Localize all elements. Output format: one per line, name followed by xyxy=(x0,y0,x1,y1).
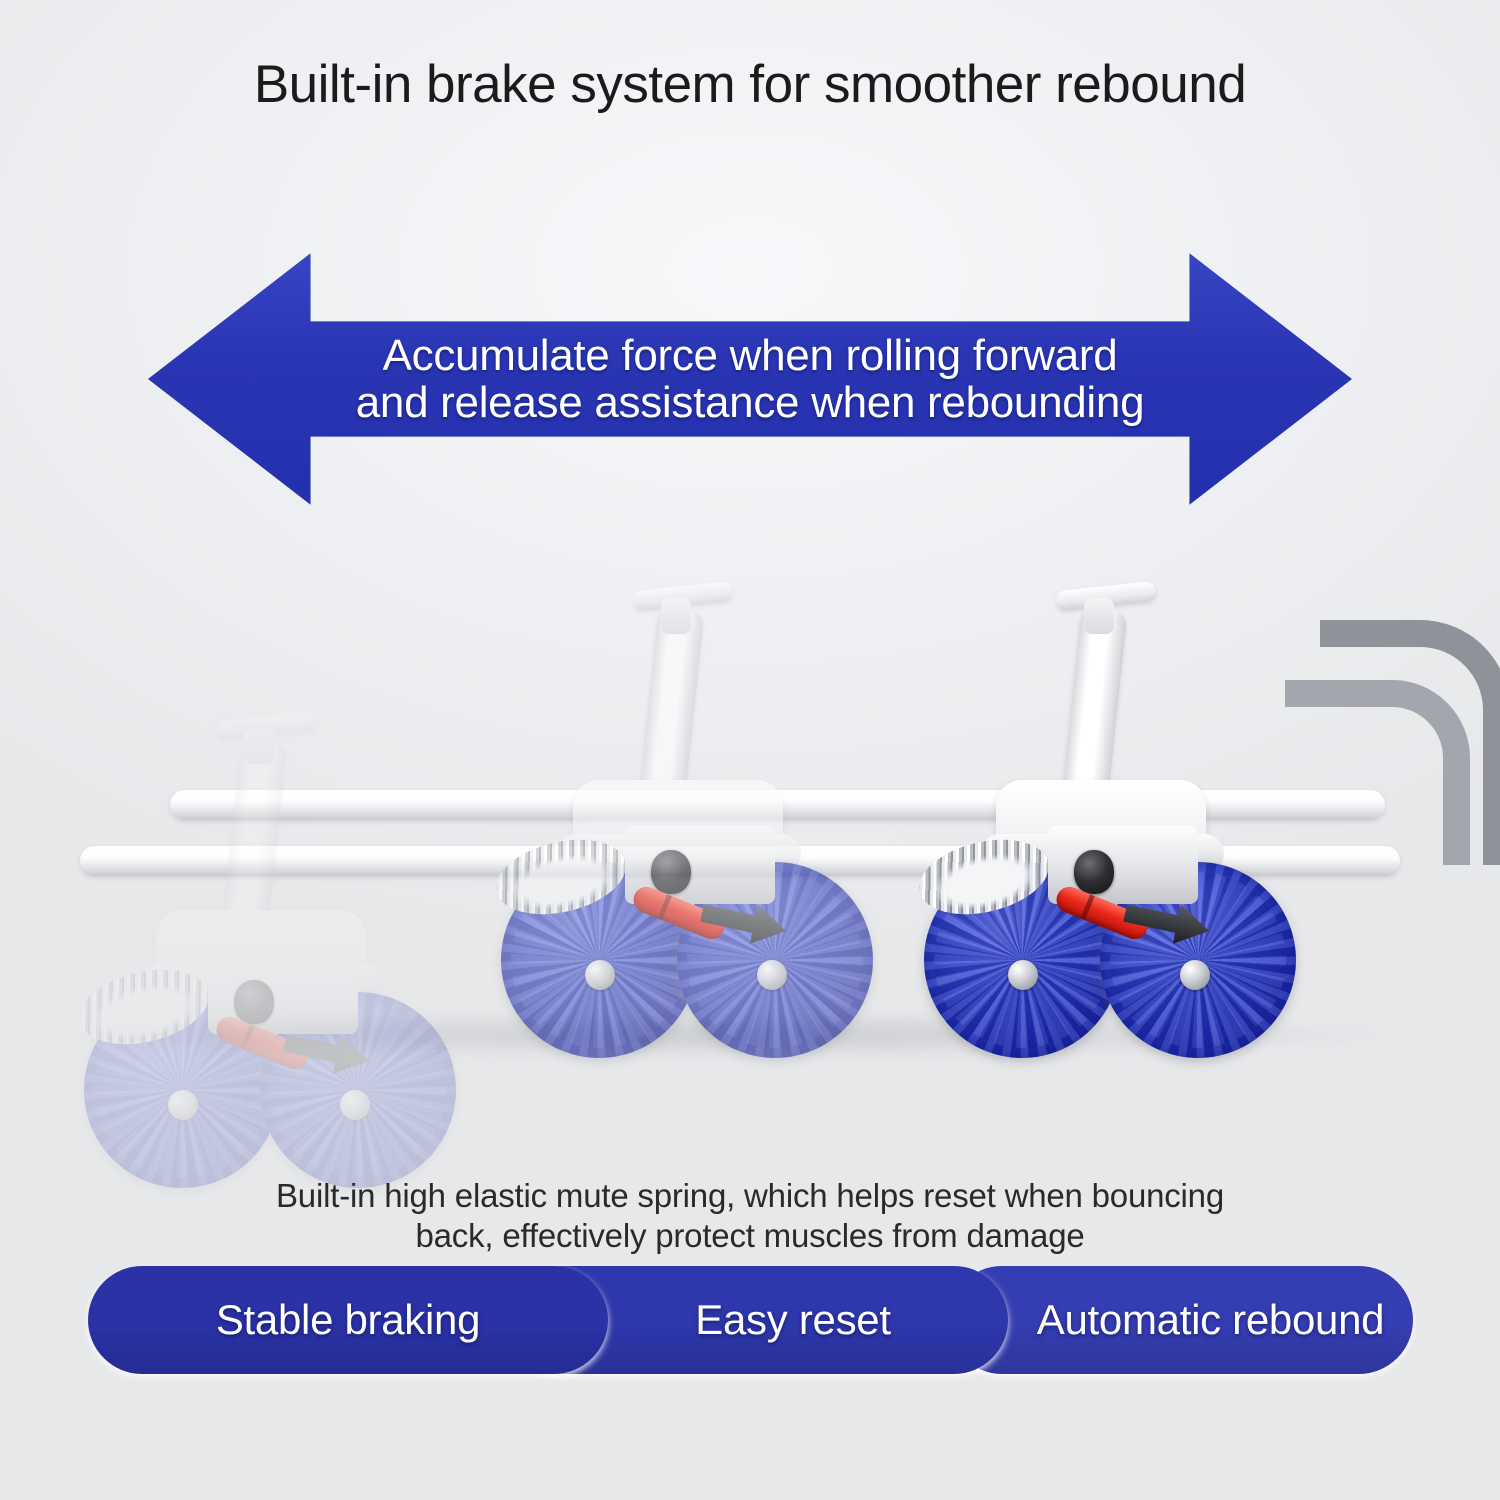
wheel-hub-left xyxy=(585,960,615,990)
feature-pill-bar: Automatic rebound Easy reset Stable brak… xyxy=(88,1266,1413,1374)
wheel-hub-right xyxy=(1180,960,1210,990)
handle-cap xyxy=(661,598,691,634)
feature-pill-label: Stable braking xyxy=(216,1296,480,1344)
feature-pill-automatic-rebound[interactable]: Automatic rebound xyxy=(948,1266,1413,1374)
banner-line-1: Accumulate force when rolling forward xyxy=(383,331,1118,380)
feature-caption: Built-in high elastic mute spring, which… xyxy=(0,1176,1500,1257)
brake-knob xyxy=(651,850,691,894)
wheel-hub-left xyxy=(168,1090,198,1120)
wheel-hub-left xyxy=(1008,960,1038,990)
banner-line-2: and release assistance when rebounding xyxy=(338,379,1162,426)
feature-pill-label: Easy reset xyxy=(695,1296,890,1344)
handle-cap xyxy=(244,728,274,764)
feature-pill-stable-braking[interactable]: Stable braking xyxy=(88,1266,608,1374)
roller-stage-1-ghost xyxy=(48,710,468,1230)
product-motion-sequence xyxy=(0,560,1500,1120)
brake-knob xyxy=(1074,850,1114,894)
caption-line-1: Built-in high elastic mute spring, which… xyxy=(276,1177,1224,1214)
handle-tube-inner xyxy=(1285,680,1470,865)
force-direction-banner: Accumulate force when rolling forward an… xyxy=(148,248,1352,510)
roller-stage-2-ghost xyxy=(465,580,885,1100)
banner-text: Accumulate force when rolling forward an… xyxy=(148,332,1352,426)
product-feature-infographic: Built-in brake system for smoother rebou… xyxy=(0,0,1500,1500)
page-title: Built-in brake system for smoother rebou… xyxy=(0,56,1500,114)
brake-knob xyxy=(234,980,274,1024)
handle-cap xyxy=(1084,598,1114,634)
wheel-hub-right xyxy=(757,960,787,990)
wheel-hub-right xyxy=(340,1090,370,1120)
caption-line-2: back, effectively protect muscles from d… xyxy=(0,1216,1500,1256)
roller-stage-3-solid xyxy=(888,580,1308,1100)
feature-pill-label: Automatic rebound xyxy=(1037,1296,1384,1344)
